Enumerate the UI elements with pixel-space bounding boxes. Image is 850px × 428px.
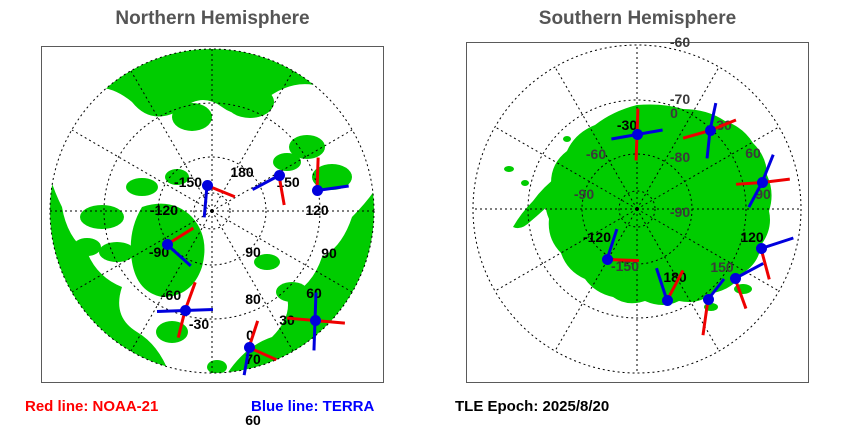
satellite-dot [705,125,716,136]
panel-northern-hemisphere: Northern Hemisphere [0,0,425,425]
grid-label: -120 [583,230,611,244]
grid-label: 150 [710,260,733,274]
grid-label: 90 [321,246,337,260]
grid-label: -150 [174,175,202,189]
satellite-dot [730,273,741,284]
north-map-svg [42,47,383,382]
panel-southern-hemisphere: Southern Hemisphere [425,0,850,425]
satellite-dot [274,170,285,181]
satellite-dot [703,294,714,305]
panel-title-north: Northern Hemisphere [0,8,425,30]
grid-label: -60 [586,147,606,161]
grid-label: 0 [670,106,678,120]
satellite-dot [662,295,673,306]
satellite-dot [756,243,767,254]
grid-label: 120 [740,230,763,244]
grid-label: -120 [150,203,178,217]
satellite-dot [180,305,191,316]
satellite-dot [202,180,213,191]
legend-terra: Blue line: TERRA [251,398,374,415]
south-map-svg [467,43,808,382]
grid-label-lat: -80 [670,150,690,164]
grid-label-lat: 90 [245,245,261,259]
satellite-dot [602,254,613,265]
legend-noaa21: Red line: NOAA-21 [25,398,158,415]
grid-label-lat: 80 [245,292,261,306]
grid-label-lat: -90 [670,205,690,219]
plot-area-south: -60 -70 -80 -90 0 -30 -60 -90 -120 -150 … [466,42,809,383]
satellite-dot [757,177,768,188]
grid-label: 180 [230,165,253,179]
grid-label: -90 [574,187,594,201]
satellite-dot [632,129,643,140]
figure-canvas: Northern Hemisphere [0,0,850,425]
grid-label: 60 [745,146,761,160]
satellite-dot [310,315,321,326]
plot-area-north: 180 -150 -120 -90 -60 -30 0 30 60 90 120… [41,46,384,383]
satellite-dot [162,239,173,250]
grid-label: -60 [161,288,181,302]
grid-label: -30 [189,317,209,331]
satellite-dot [244,342,255,353]
panel-title-south: Southern Hemisphere [425,8,850,30]
grid-label-lat: -60 [670,35,690,49]
satellite-dot [312,185,323,196]
grid-label: 120 [305,203,328,217]
tle-epoch-label: TLE Epoch: 2025/8/20 [455,398,609,415]
grid-label-lat: -70 [670,92,690,106]
